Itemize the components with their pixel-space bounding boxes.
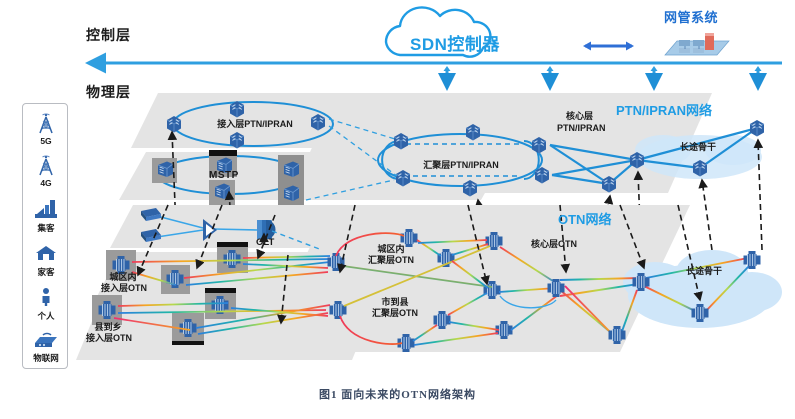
iot-gateway-icon	[23, 326, 69, 352]
legend-item-home[interactable]: 家客	[23, 240, 69, 278]
otn-urban-access-label-line2: 接入层OTN	[85, 283, 163, 294]
person-icon	[23, 284, 69, 310]
sdn-controller-label: SDN控制器	[410, 36, 500, 54]
access-types-legend: 5G 4G	[22, 103, 68, 369]
olt-label: OLT	[256, 238, 274, 248]
legend-item-5g[interactable]: 5G	[23, 110, 69, 146]
otn-city-county-agg-label-line1: 市到县	[358, 297, 432, 308]
nms-server-icon	[665, 33, 729, 55]
ptn-backbone-label: 长途骨干	[666, 143, 730, 152]
otn-county-access-label-line1: 县到乡	[76, 322, 140, 333]
legend-item-4g[interactable]: 4G	[23, 152, 69, 188]
legend-label-iot: 物联网	[23, 352, 69, 364]
ptn-core-label-line1: 核心层	[566, 112, 593, 121]
nms-link-arrow	[583, 42, 634, 51]
otn-county-access-label-line2: 接入层OTN	[70, 333, 148, 344]
otn-backbone-label: 长途骨干	[672, 267, 736, 276]
physical-layer-label: 物理层	[86, 85, 131, 100]
otn-network-title: OTN网络	[558, 213, 611, 227]
otn-urban-agg-label-line1: 城区内	[354, 244, 428, 255]
legend-label-4g: 4G	[23, 178, 69, 188]
house-icon	[23, 240, 69, 266]
legend-label-individual: 个人	[23, 310, 69, 322]
figure-caption: 图1 面向未来的OTN网络架构	[0, 386, 795, 402]
diagram-canvas: 控制层 物理层 SDN控制器 网管系统 PTN/IPRAN网络 OTN网络 接入…	[0, 0, 795, 419]
factory-icon	[23, 196, 69, 222]
otn-core-label: 核心层OTN	[519, 240, 589, 249]
cell-tower-icon	[23, 110, 69, 136]
legend-label-home: 家客	[23, 266, 69, 278]
ptn-core-label-line2: PTN/IPRAN	[557, 124, 606, 133]
network-architecture-svg	[0, 0, 795, 419]
mstp-label: MSTP	[209, 171, 239, 182]
otn-urban-agg-label-line2: 汇聚层OTN	[352, 255, 430, 266]
nms-label: 网管系统	[664, 11, 718, 25]
legend-item-enterprise[interactable]: 集客	[23, 196, 69, 234]
control-layer-label: 控制层	[86, 28, 131, 43]
ptn-aggregation-ring-label: 汇聚层PTN/IPRAN	[405, 161, 517, 170]
legend-label-5g: 5G	[23, 136, 69, 146]
otn-city-county-agg-label-line2: 汇聚层OTN	[356, 308, 434, 319]
legend-label-enterprise: 集客	[23, 222, 69, 234]
cell-tower-icon	[23, 152, 69, 178]
legend-item-individual[interactable]: 个人	[23, 284, 69, 322]
ptn-access-ring-label: 接入层PTN/IPRAN	[200, 120, 310, 129]
otn-urban-access-label-line1: 城区内	[91, 272, 155, 283]
legend-item-iot[interactable]: 物联网	[23, 326, 69, 364]
ptn-network-title: PTN/IPRAN网络	[616, 104, 712, 118]
control-plane-bus	[88, 63, 782, 88]
